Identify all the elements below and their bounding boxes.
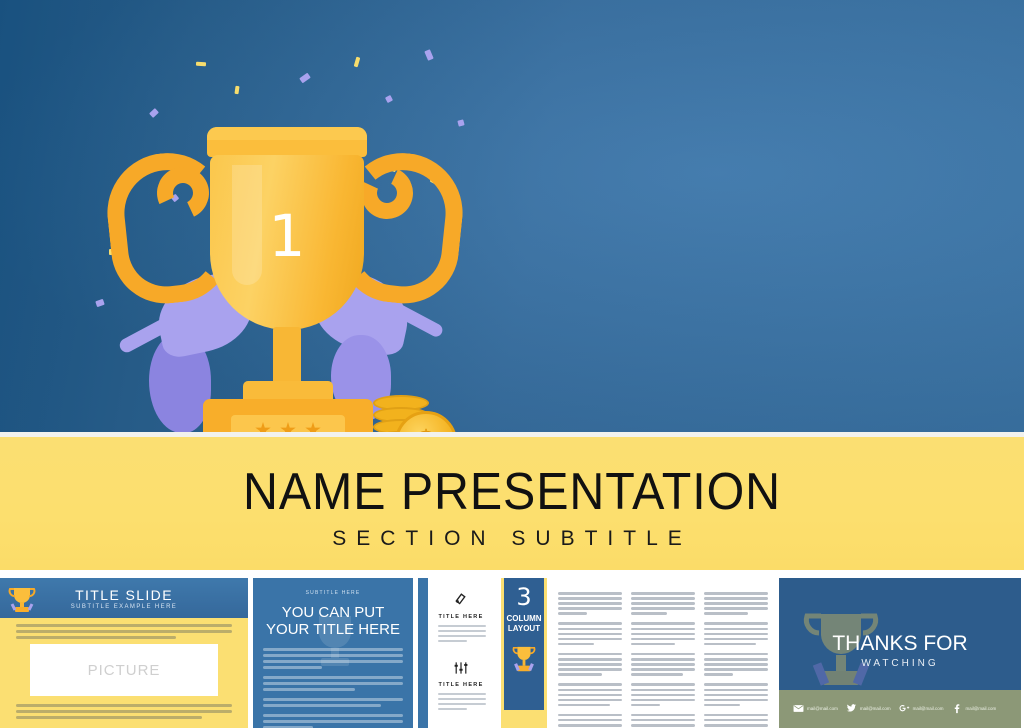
text-line bbox=[704, 689, 768, 692]
text-line bbox=[631, 628, 695, 631]
text-line bbox=[558, 689, 622, 692]
text-line bbox=[631, 592, 695, 595]
thumbnail-three-column-text-slide[interactable] bbox=[552, 578, 774, 728]
thumb-body-text-top bbox=[16, 624, 232, 642]
thumb-item-text bbox=[438, 625, 486, 645]
thumbnail-title-slide[interactable]: TITLE SLIDE SUBTITLE EXAMPLE HERE PICTUR… bbox=[0, 578, 248, 728]
thumb-body-text-bottom bbox=[16, 704, 232, 722]
confetti-piece bbox=[196, 62, 206, 67]
text-line bbox=[558, 724, 622, 727]
text-line bbox=[704, 638, 768, 641]
text-line bbox=[558, 668, 622, 671]
text-column bbox=[558, 592, 622, 728]
bottle-icon bbox=[452, 590, 469, 612]
text-line bbox=[631, 638, 695, 641]
text-line bbox=[631, 694, 695, 697]
text-line bbox=[558, 714, 622, 717]
text-line bbox=[558, 638, 622, 641]
presentation-template-preview: 1 $ bbox=[0, 0, 1024, 728]
dollar-symbol: $ bbox=[418, 425, 435, 432]
trophy-star-plate bbox=[231, 415, 345, 432]
text-line bbox=[704, 668, 768, 671]
text-line bbox=[558, 673, 602, 676]
text-line bbox=[631, 689, 695, 692]
text-line bbox=[704, 628, 768, 631]
text-line bbox=[631, 612, 667, 615]
trophy-number: 1 bbox=[210, 207, 364, 265]
social-label: mail@mail.com bbox=[860, 706, 891, 711]
text-line bbox=[558, 663, 622, 666]
trophy-illustration: 1 $ bbox=[95, 95, 475, 432]
thumb-subtitle: WATCHING bbox=[779, 658, 1021, 669]
column-count: 3 bbox=[504, 583, 544, 611]
text-line bbox=[631, 668, 695, 671]
thumbnail-column-layout-slide[interactable]: 3 COLUMN LAYOUT bbox=[501, 578, 547, 728]
google-plus-icon bbox=[899, 703, 910, 713]
text-line bbox=[558, 643, 594, 646]
text-line bbox=[558, 622, 622, 625]
text-column bbox=[704, 592, 768, 728]
title-band: NAME PRESENTATION SECTION SUBTITLE bbox=[0, 437, 1024, 570]
thumb-item-title: TITLE HERE bbox=[428, 614, 494, 620]
text-line bbox=[558, 683, 622, 686]
text-line bbox=[631, 699, 695, 702]
text-line bbox=[631, 658, 695, 661]
sliders-icon bbox=[453, 660, 469, 681]
text-line bbox=[704, 704, 740, 707]
column-label-line1: COLUMN bbox=[504, 614, 544, 623]
social-link[interactable]: mail@mail.com bbox=[951, 703, 996, 713]
thumb-side-strip bbox=[418, 578, 428, 728]
text-line bbox=[704, 719, 768, 722]
hero-slide: 1 $ bbox=[0, 0, 1024, 432]
text-line bbox=[558, 628, 622, 631]
text-line bbox=[631, 597, 695, 600]
text-line bbox=[704, 694, 768, 697]
text-line bbox=[558, 719, 622, 722]
text-line bbox=[704, 653, 768, 656]
text-line bbox=[558, 597, 622, 600]
text-line bbox=[558, 602, 622, 605]
text-line bbox=[704, 673, 733, 676]
social-link[interactable]: mail@mail.com bbox=[899, 703, 944, 713]
text-line bbox=[631, 719, 695, 722]
thumbnail-thanks-slide[interactable]: THANKS FOR WATCHING mail@mail.commail@ma… bbox=[779, 578, 1021, 728]
text-line bbox=[704, 597, 768, 600]
text-line bbox=[558, 592, 622, 595]
text-line bbox=[704, 622, 768, 625]
slide-thumbnail-strip: TITLE SLIDE SUBTITLE EXAMPLE HERE PICTUR… bbox=[0, 570, 1024, 728]
text-line bbox=[704, 658, 768, 661]
text-line bbox=[631, 714, 695, 717]
thumb-title: THANKS FOR bbox=[779, 632, 1021, 656]
thumb-body-text bbox=[263, 648, 403, 728]
presentation-title: NAME PRESENTATION bbox=[36, 462, 988, 522]
thumb-item-text bbox=[438, 693, 486, 713]
social-link[interactable]: mail@mail.com bbox=[846, 703, 891, 713]
text-line bbox=[631, 643, 675, 646]
trophy-rim-sheen bbox=[207, 127, 367, 140]
social-link[interactable]: mail@mail.com bbox=[793, 703, 838, 713]
text-line bbox=[631, 607, 695, 610]
text-line bbox=[558, 607, 622, 610]
star-icon bbox=[280, 422, 296, 432]
text-line bbox=[704, 633, 768, 636]
thumb-subtitle: SUBTITLE EXAMPLE HERE bbox=[0, 604, 248, 610]
trophy-cup: 1 bbox=[210, 155, 364, 330]
social-label: mail@mail.com bbox=[913, 706, 944, 711]
text-line bbox=[704, 663, 768, 666]
thumb-blue-panel: 3 COLUMN LAYOUT bbox=[504, 578, 544, 710]
text-line bbox=[558, 704, 610, 707]
facebook-icon bbox=[951, 703, 962, 713]
text-line bbox=[631, 683, 695, 686]
presentation-subtitle: SECTION SUBTITLE bbox=[0, 527, 1024, 551]
text-line bbox=[631, 653, 695, 656]
text-line bbox=[704, 714, 768, 717]
text-line bbox=[558, 699, 622, 702]
text-line bbox=[704, 724, 768, 727]
social-label: mail@mail.com bbox=[965, 706, 996, 711]
text-line bbox=[558, 694, 622, 697]
mail-icon bbox=[793, 703, 804, 713]
column-label-line2: LAYOUT bbox=[504, 624, 544, 633]
twitter-icon bbox=[846, 703, 857, 713]
text-line bbox=[704, 699, 768, 702]
text-line bbox=[631, 663, 695, 666]
trophy-stem bbox=[273, 327, 301, 387]
text-line bbox=[558, 653, 622, 656]
thumb-title: TITLE SLIDE bbox=[0, 587, 248, 603]
text-line bbox=[631, 704, 660, 707]
text-line bbox=[631, 633, 695, 636]
trophy-icon bbox=[509, 644, 539, 681]
social-links: mail@mail.commail@mail.commail@mail.comm… bbox=[793, 703, 1015, 713]
text-line bbox=[631, 602, 695, 605]
thumb-subtitle: SUBTITLE HERE bbox=[253, 590, 413, 596]
thumb-title: YOU CAN PUT YOUR TITLE HERE bbox=[261, 604, 405, 638]
text-line bbox=[558, 612, 587, 615]
text-line bbox=[704, 592, 768, 595]
star-icon bbox=[255, 422, 271, 432]
text-line bbox=[631, 724, 695, 727]
text-line bbox=[704, 607, 768, 610]
text-line bbox=[558, 658, 622, 661]
text-line bbox=[631, 622, 695, 625]
text-line bbox=[704, 683, 768, 686]
text-columns bbox=[558, 592, 768, 728]
text-line bbox=[704, 602, 768, 605]
thumbnail-icon-titles-slide[interactable]: TITLE HERE TITLE HERE bbox=[418, 578, 496, 728]
picture-placeholder: PICTURE bbox=[30, 644, 218, 696]
trophy-rim bbox=[207, 127, 367, 157]
text-line bbox=[704, 612, 748, 615]
text-line bbox=[704, 643, 756, 646]
text-line bbox=[631, 673, 683, 676]
text-line bbox=[558, 633, 622, 636]
text-column bbox=[631, 592, 695, 728]
thumb-item-title: TITLE HERE bbox=[428, 682, 494, 688]
social-label: mail@mail.com bbox=[807, 706, 838, 711]
star-icon bbox=[305, 422, 321, 432]
thumbnail-blue-title-slide[interactable]: SUBTITLE HERE YOU CAN PUT YOUR TITLE HER… bbox=[253, 578, 413, 728]
